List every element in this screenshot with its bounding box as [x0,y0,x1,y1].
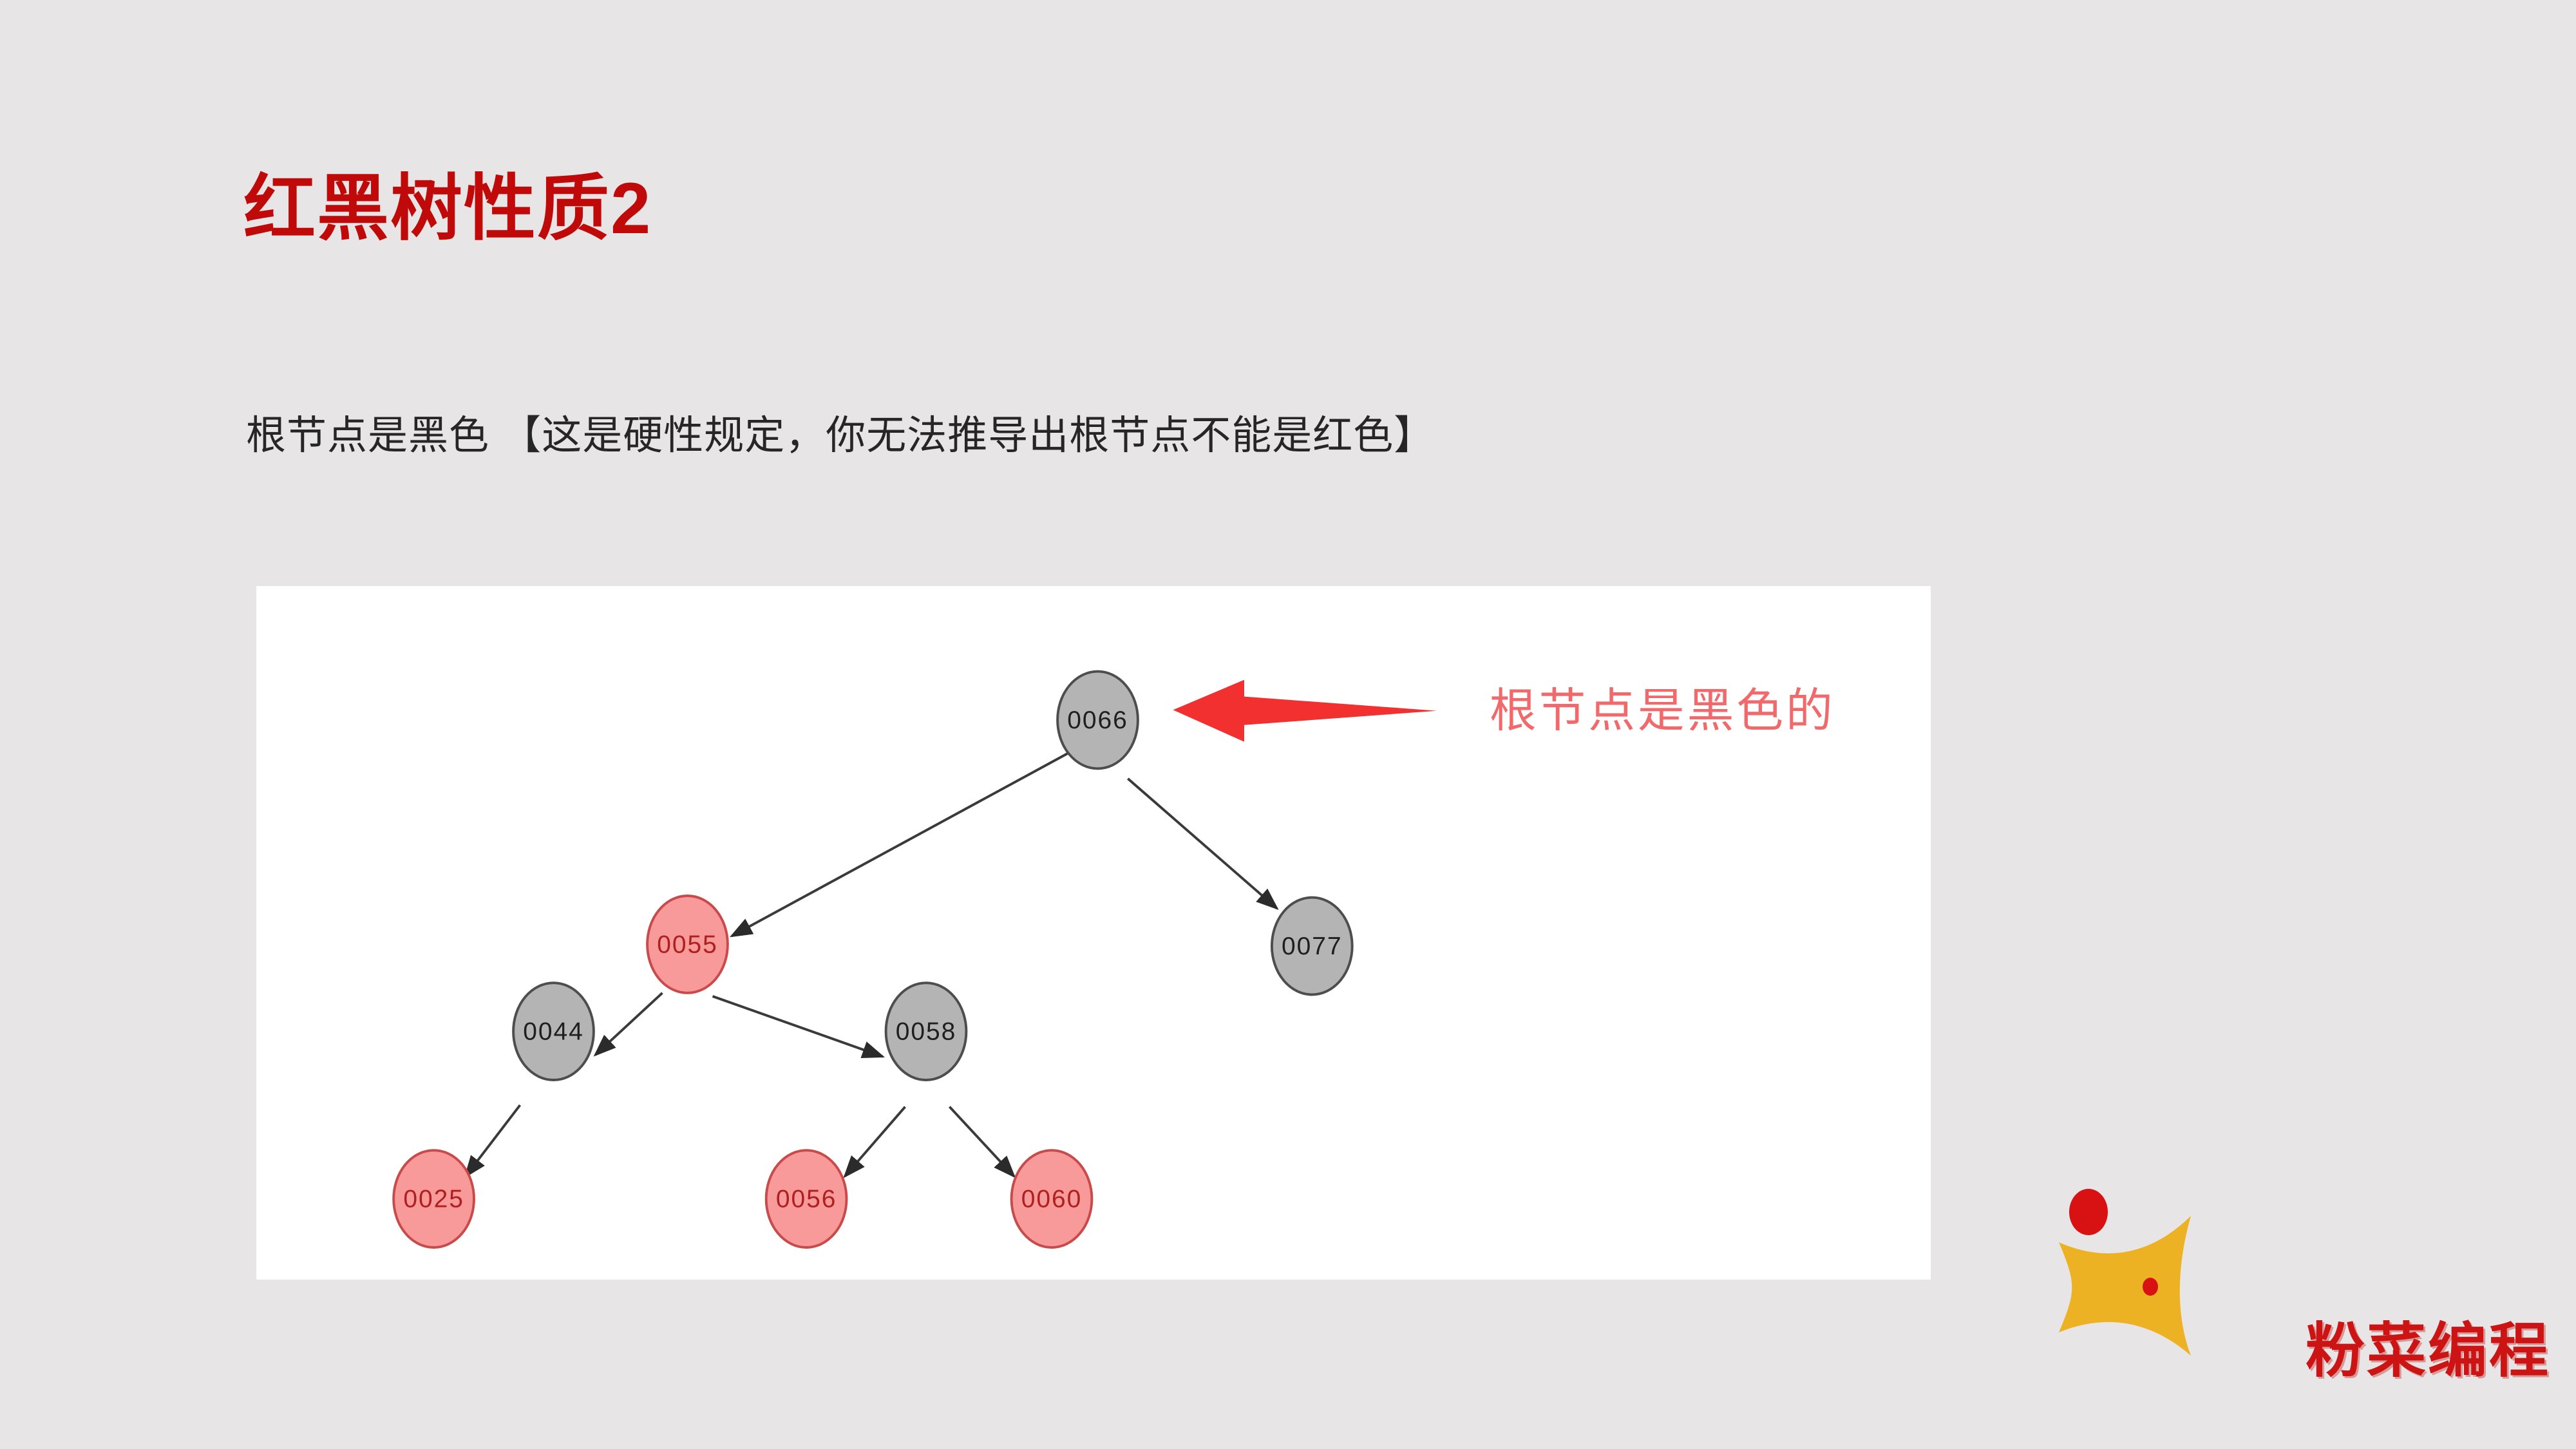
edge-0055-0058 [713,996,883,1057]
red-black-tree-svg: 0066 0055 0077 0044 0058 0025 0056 [256,586,1931,1280]
edge-0055-0044 [596,993,663,1055]
tree-edges [466,753,1277,1177]
edge-0066-0055 [732,753,1067,936]
logo-body-shape-icon [2059,1216,2191,1356]
annotation-arrow-icon [1173,680,1437,742]
node-label: 0044 [523,1018,584,1046]
tree-node-0044[interactable]: 0044 [513,983,594,1080]
edge-0058-0056 [845,1107,905,1177]
brand-name: 粉菜编程 [2306,1303,2550,1388]
logo-head-dot-icon [2069,1189,2108,1235]
tree-node-0060[interactable]: 0060 [1012,1150,1092,1247]
edge-0058-0060 [949,1107,1014,1177]
edge-0066-0077 [1128,779,1276,909]
tree-node-0055[interactable]: 0055 [647,896,728,993]
tree-diagram-panel: 0066 0055 0077 0044 0058 0025 0056 [256,586,1931,1280]
node-label: 0060 [1021,1186,1083,1213]
node-label: 0066 [1067,706,1128,734]
logo-small-head-dot-icon [2143,1278,2158,1296]
node-label: 0025 [403,1186,464,1213]
node-label: 0077 [1282,933,1343,960]
node-label: 0058 [896,1018,957,1046]
page-title: 红黑树性质2 [243,169,652,248]
edge-0044-0025 [466,1105,520,1177]
brand-logo: 粉菜编程 [2048,1188,2486,1401]
annotation-label: 根节点是黑色的 [1490,685,1835,737]
node-label: 0056 [776,1186,837,1213]
body-paragraph: 根节点是黑色 【这是硬性规定，你无法推导出根节点不能是红色】 [246,411,1434,461]
tree-node-0056[interactable]: 0056 [766,1150,847,1247]
tree-node-0058[interactable]: 0058 [886,983,967,1080]
node-label: 0055 [657,931,718,958]
tree-node-0025[interactable]: 0025 [393,1150,474,1247]
tree-node-0066[interactable]: 0066 [1057,672,1138,769]
tree-node-0077[interactable]: 0077 [1272,898,1352,995]
